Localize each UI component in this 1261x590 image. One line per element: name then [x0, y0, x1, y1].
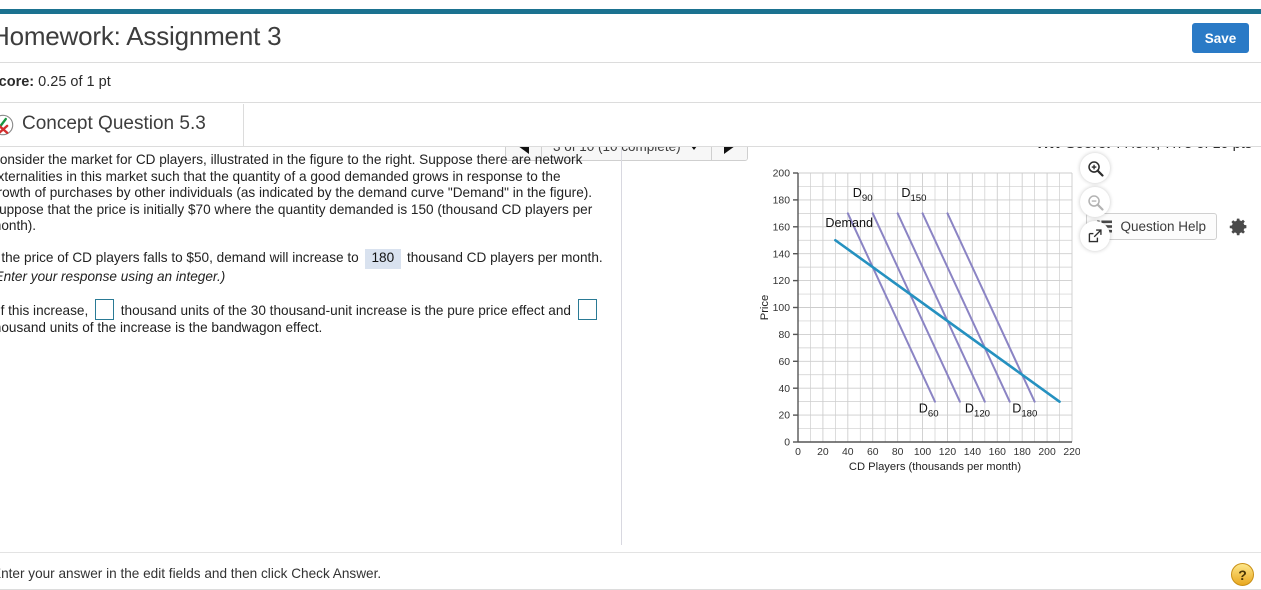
- y-tick-label: 100: [773, 303, 791, 314]
- series-label-D60: D60: [919, 401, 939, 419]
- x-tick-label: 100: [914, 447, 932, 458]
- score-row: Score: 0.25 of 1 pt 3 of 10 (10 complete…: [0, 63, 1261, 103]
- x-tick-label: 20: [817, 447, 829, 458]
- save-button[interactable]: Save: [1192, 23, 1249, 53]
- q3-middle: thousand units of the 30 thousand-unit i…: [121, 303, 571, 318]
- question-paragraph-1: Consider the market for CD players, illu…: [0, 152, 605, 235]
- title-row: Homework: Assignment 3 Save: [0, 14, 1261, 63]
- zoom-out-icon: [1087, 194, 1104, 211]
- answer-field-price-effect[interactable]: [95, 299, 114, 320]
- y-tick-label: 140: [773, 249, 791, 260]
- series-label-D90: D90: [853, 186, 873, 204]
- y-tick-label: 40: [778, 384, 790, 395]
- footer-divider: [0, 552, 1261, 553]
- page-title: Homework: Assignment 3: [0, 21, 281, 52]
- content-divider: [621, 148, 622, 545]
- x-tick-label: 220: [1063, 447, 1080, 458]
- popout-button[interactable]: [1080, 221, 1110, 251]
- y-tick-label: 60: [778, 357, 790, 368]
- series-label-D120: D120: [965, 401, 990, 419]
- zoom-in-icon: [1087, 160, 1104, 177]
- figure-panel: 0204060801001201401601802000204060801001…: [640, 150, 1255, 545]
- y-tick-label: 0: [784, 438, 790, 449]
- y-tick-label: 180: [773, 196, 791, 207]
- question-paragraph-3: Of this increase, thousand units of the …: [0, 299, 605, 337]
- answer-field-quantity[interactable]: 180: [365, 249, 402, 269]
- zoom-out-button[interactable]: [1080, 187, 1110, 217]
- series-label-D180: D180: [1012, 401, 1037, 419]
- series-label-Demand: Demand: [825, 216, 873, 230]
- x-axis-label: CD Players (thousands per month): [849, 461, 1022, 473]
- x-tick-label: 140: [964, 447, 982, 458]
- partial-credit-icon: [0, 114, 14, 136]
- zoom-in-button[interactable]: [1080, 153, 1110, 183]
- homework-page: Homework: Assignment 3 Save Score: 0.25 …: [0, 0, 1261, 590]
- y-tick-label: 120: [773, 276, 791, 287]
- q3-before: Of this increase,: [0, 303, 88, 318]
- question-title: Concept Question 5.3: [22, 113, 206, 135]
- question-score-value: 0.25 of 1 pt: [38, 74, 111, 90]
- y-axis-label: Price: [759, 295, 771, 321]
- q2-after: thousand CD players per month.: [407, 250, 603, 265]
- question-score-label: Score:: [0, 74, 34, 90]
- y-tick-label: 200: [773, 169, 791, 180]
- answer-field-bandwagon-effect[interactable]: [578, 299, 597, 320]
- q2-hint: (Enter your response using an integer.): [0, 269, 225, 284]
- x-tick-label: 60: [867, 447, 879, 458]
- pop-out-icon: [1087, 228, 1103, 244]
- x-tick-label: 0: [795, 447, 801, 458]
- x-tick-label: 180: [1014, 447, 1032, 458]
- x-tick-label: 40: [842, 447, 854, 458]
- question-title-divider: [243, 104, 244, 147]
- x-tick-label: 120: [939, 447, 957, 458]
- y-tick-label: 160: [773, 222, 791, 233]
- help-button[interactable]: ?: [1231, 563, 1254, 586]
- y-tick-label: 80: [778, 330, 790, 341]
- demand-chart: 0204060801001201401601802000204060801001…: [750, 155, 1080, 485]
- question-paragraph-2: If the price of CD players falls to $50,…: [0, 249, 605, 285]
- x-tick-label: 200: [1038, 447, 1056, 458]
- y-tick-label: 20: [778, 411, 790, 422]
- question-header-row: Concept Question 5.3 Question Help: [0, 103, 1261, 147]
- x-tick-label: 80: [892, 447, 904, 458]
- footer-instruction: Enter your answer in the edit fields and…: [0, 566, 381, 581]
- x-tick-label: 160: [989, 447, 1007, 458]
- q3-after: thousand units of the increase is the ba…: [0, 320, 322, 335]
- question-text: Consider the market for CD players, illu…: [0, 152, 605, 337]
- question-score: Score: 0.25 of 1 pt: [0, 74, 111, 90]
- q2-before: If the price of CD players falls to $50,…: [0, 250, 359, 265]
